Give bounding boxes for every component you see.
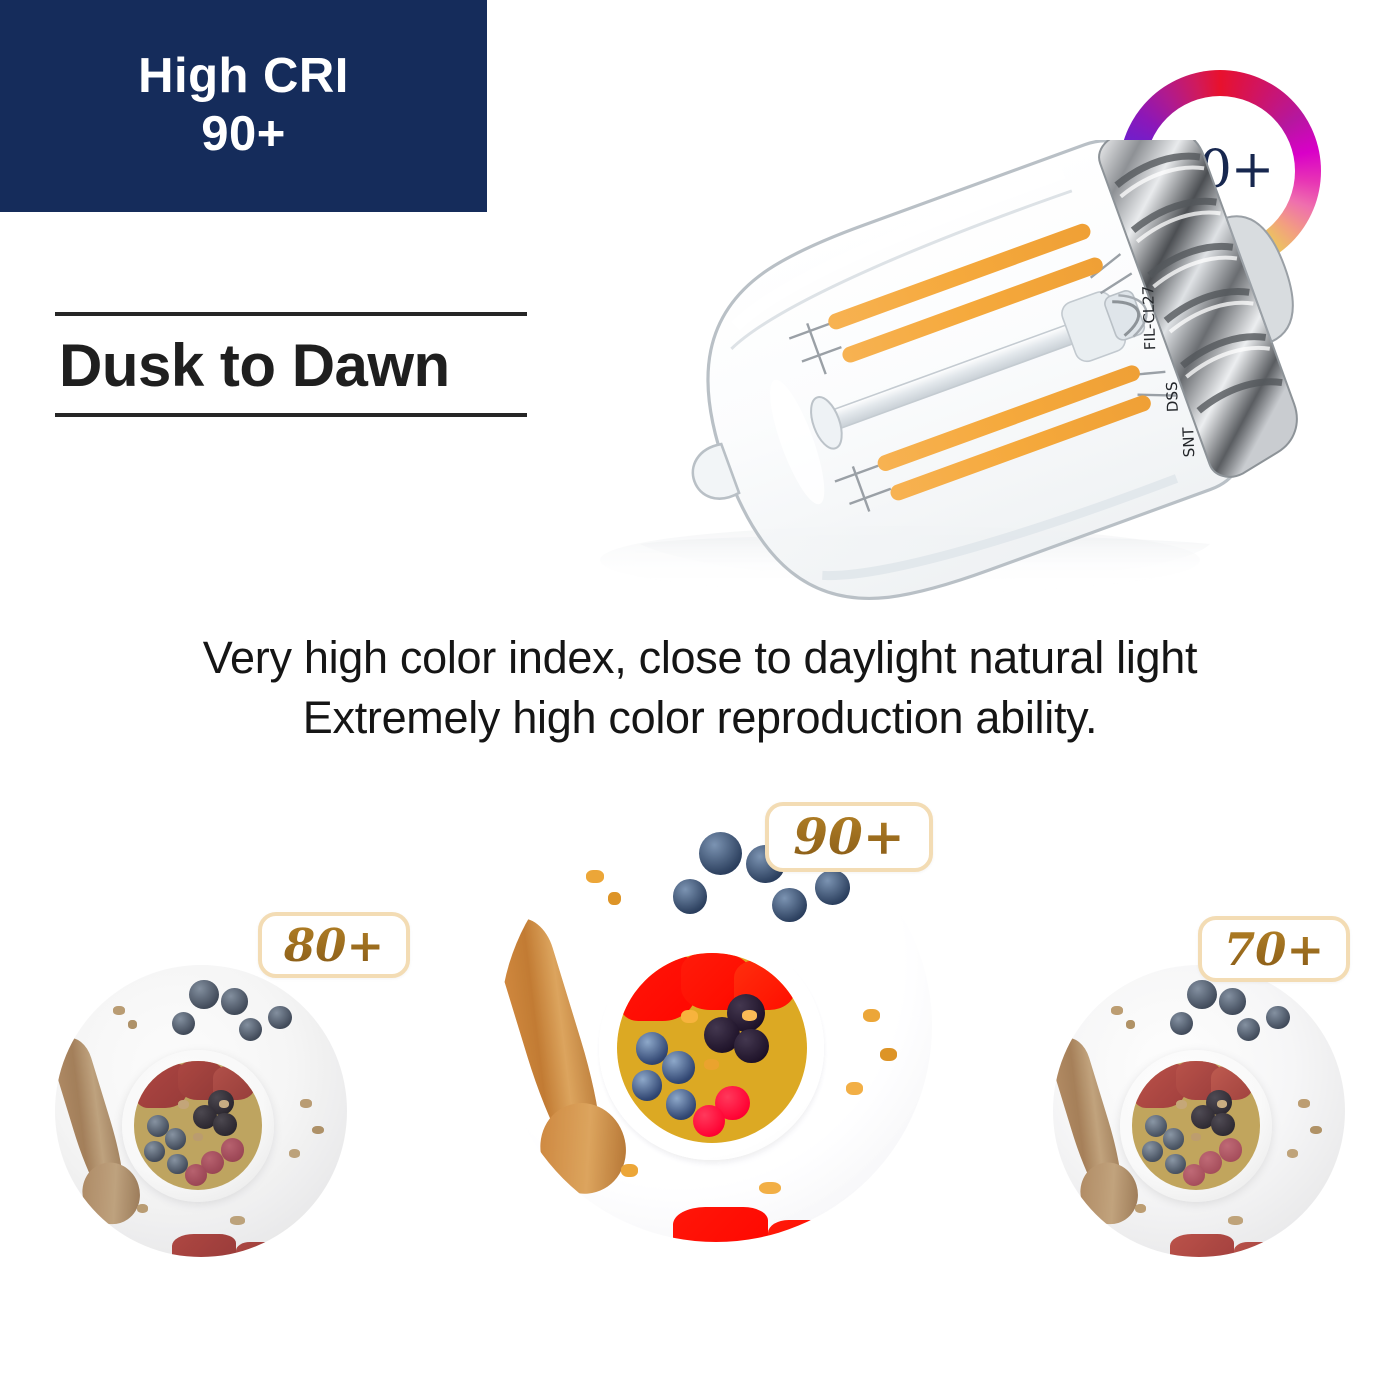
headline-block: Dusk to Dawn xyxy=(55,312,527,417)
cri-label-80: 80+ xyxy=(258,912,410,978)
cri-label-70: 70+ xyxy=(1198,916,1350,982)
cri-sample-70 xyxy=(1053,965,1345,1257)
food-photo-90 xyxy=(500,810,932,1242)
description-line-2: Extremely high color reproduction abilit… xyxy=(0,688,1400,748)
bulb-base-text-snt: SNT xyxy=(1179,426,1198,457)
bulb-base-text-fil: FIL-CL27 xyxy=(1139,285,1159,350)
cri-comparison-group: 80+ 90+ 70+ xyxy=(0,780,1400,1400)
cri-label-90: 90+ xyxy=(765,802,933,872)
high-cri-badge-line1: High CRI xyxy=(138,48,349,106)
cri-sample-80 xyxy=(55,965,347,1257)
cri-label-90-text: 90+ xyxy=(793,812,904,862)
page-title: Dusk to Dawn xyxy=(55,316,527,411)
bulb-base-text-dss: DSS xyxy=(1163,381,1182,412)
cri-label-80-text: 80+ xyxy=(284,923,384,968)
description-block: Very high color index, close to daylight… xyxy=(0,628,1400,748)
headline-rule-bottom xyxy=(55,413,527,417)
high-cri-badge: High CRI 90+ xyxy=(0,0,487,212)
light-bulb-image: SNT DSS FIL-CL27 xyxy=(520,140,1350,620)
cri-sample-90 xyxy=(500,810,932,1242)
cri-label-70-text: 70+ xyxy=(1224,927,1324,972)
food-photo-70 xyxy=(1053,965,1345,1257)
description-line-1: Very high color index, close to daylight… xyxy=(0,628,1400,688)
high-cri-badge-line2: 90+ xyxy=(201,106,286,164)
food-photo-80 xyxy=(55,965,347,1257)
